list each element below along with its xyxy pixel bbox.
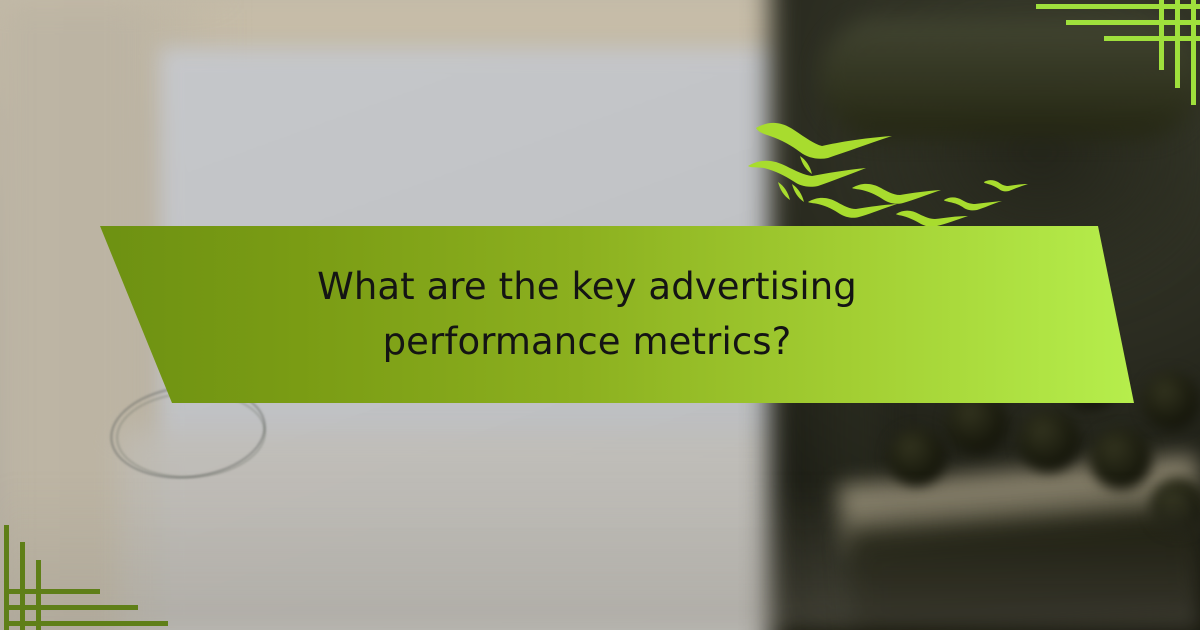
bracket-line-v (36, 560, 41, 630)
bracket-line-h (1104, 36, 1200, 41)
bird-icon (778, 182, 790, 200)
flying-birds-flock (748, 104, 1028, 234)
bird-icon (852, 184, 941, 204)
bird-icon (808, 198, 897, 218)
background-vignette (0, 480, 1200, 630)
corner-bracket-bottom-left (0, 525, 170, 630)
bird-icon (984, 180, 1028, 191)
bracket-line-v (4, 525, 9, 630)
bracket-line-h (4, 589, 100, 594)
bracket-line-v (1175, 0, 1180, 88)
typewriter-key (1018, 410, 1080, 472)
bird-icon (896, 211, 968, 227)
bird-icon (792, 184, 804, 202)
bracket-line-v (1159, 0, 1164, 70)
bracket-line-v (1191, 0, 1196, 105)
bird-icon (944, 197, 1002, 210)
headline-banner: What are the key advertising performance… (64, 226, 1134, 403)
bracket-line-v (20, 542, 25, 630)
typewriter-key (888, 428, 946, 486)
typewriter-key (1142, 372, 1200, 430)
bracket-line-h (4, 621, 168, 626)
page-title: What are the key advertising performance… (207, 260, 967, 368)
corner-bracket-top-right (1030, 0, 1200, 105)
bird-icon (800, 156, 812, 174)
bird-icon (756, 123, 892, 159)
quote-card: What are the key advertising performance… (0, 0, 1200, 630)
